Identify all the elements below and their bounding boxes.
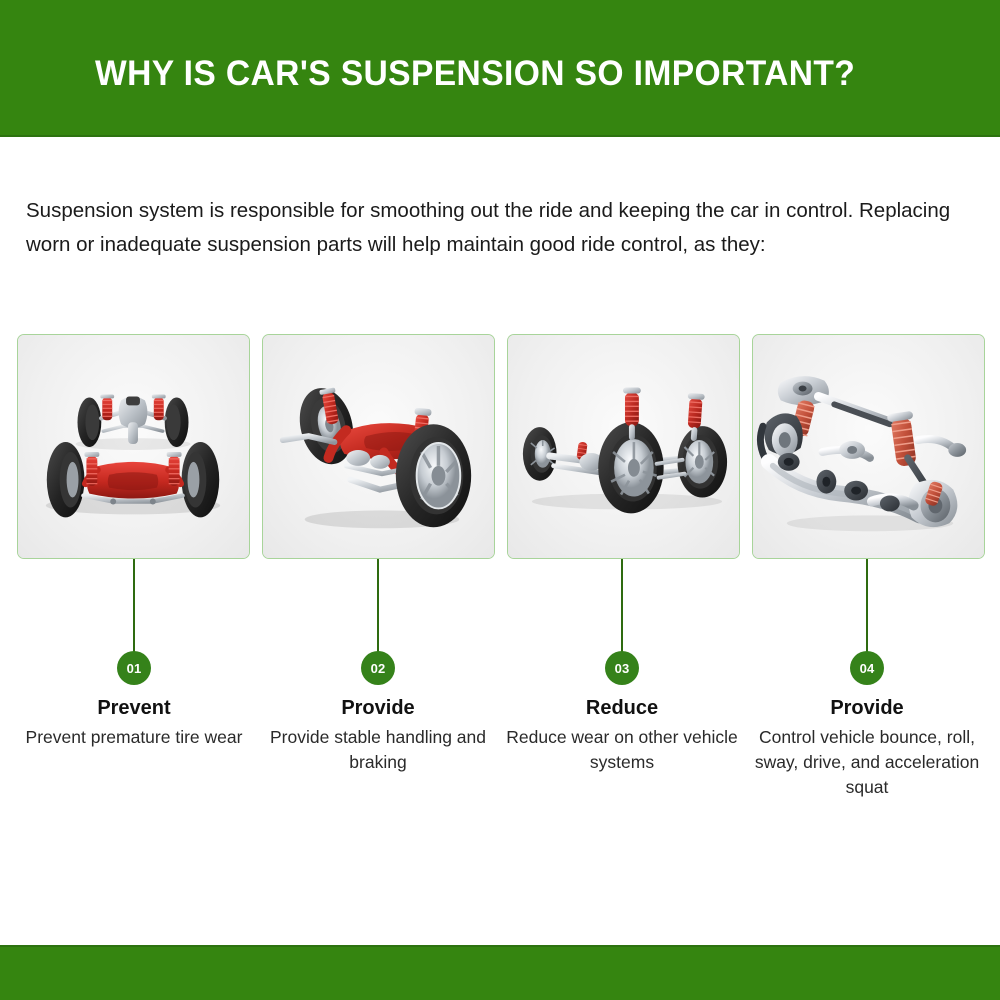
caption-title-3: Reduce (497, 695, 747, 721)
suspension-illustration-1 (18, 335, 249, 558)
header-banner: WHY IS CAR'S SUSPENSION SO IMPORTANT? (0, 0, 1000, 137)
caption-title-1: Prevent (9, 695, 259, 721)
step-badge-2: 02 (361, 651, 395, 685)
suspension-illustration-3 (508, 335, 739, 558)
card-image-row (17, 334, 985, 559)
caption-description-4: Control vehicle bounce, roll, sway, driv… (742, 725, 992, 800)
step-badge-label-2: 02 (371, 661, 386, 676)
chassis-front-view-icon (18, 335, 249, 558)
multilink-detail-icon (753, 335, 984, 558)
intro-paragraph: Suspension system is responsible for smo… (26, 194, 956, 262)
suspension-illustration-2 (263, 335, 494, 558)
connector-line-2 (377, 559, 379, 655)
page-title: WHY IS CAR'S SUSPENSION SO IMPORTANT? (95, 55, 892, 93)
infographic-page: WHY IS CAR'S SUSPENSION SO IMPORTANT? Su… (0, 0, 1000, 1000)
card-image-3 (507, 334, 740, 559)
caption-description-3: Reduce wear on other vehicle systems (497, 725, 747, 775)
card-image-2 (262, 334, 495, 559)
connector-line-3 (621, 559, 623, 655)
caption-description-2: Provide stable handling and braking (253, 725, 503, 775)
caption-2: Provide Provide stable handling and brak… (253, 695, 503, 775)
caption-title-4: Provide (742, 695, 992, 721)
caption-3: Reduce Reduce wear on other vehicle syst… (497, 695, 747, 775)
step-badge-4: 04 (850, 651, 884, 685)
step-badge-label-4: 04 (860, 661, 875, 676)
connector-line-4 (866, 559, 868, 655)
suspension-illustration-4 (753, 335, 984, 558)
step-badge-3: 03 (605, 651, 639, 685)
caption-title-2: Provide (253, 695, 503, 721)
step-badge-label-3: 03 (615, 661, 630, 676)
axle-angled-icon (263, 335, 494, 558)
step-badge-1: 01 (117, 651, 151, 685)
card-image-1 (17, 334, 250, 559)
caption-4: Provide Control vehicle bounce, roll, sw… (742, 695, 992, 800)
card-image-4 (752, 334, 985, 559)
caption-1: Prevent Prevent premature tire wear (9, 695, 259, 750)
footer-banner (0, 945, 1000, 1000)
step-badge-label-1: 01 (127, 661, 142, 676)
connector-line-1 (133, 559, 135, 655)
caption-description-1: Prevent premature tire wear (9, 725, 259, 750)
four-wheel-chassis-icon (508, 335, 739, 558)
